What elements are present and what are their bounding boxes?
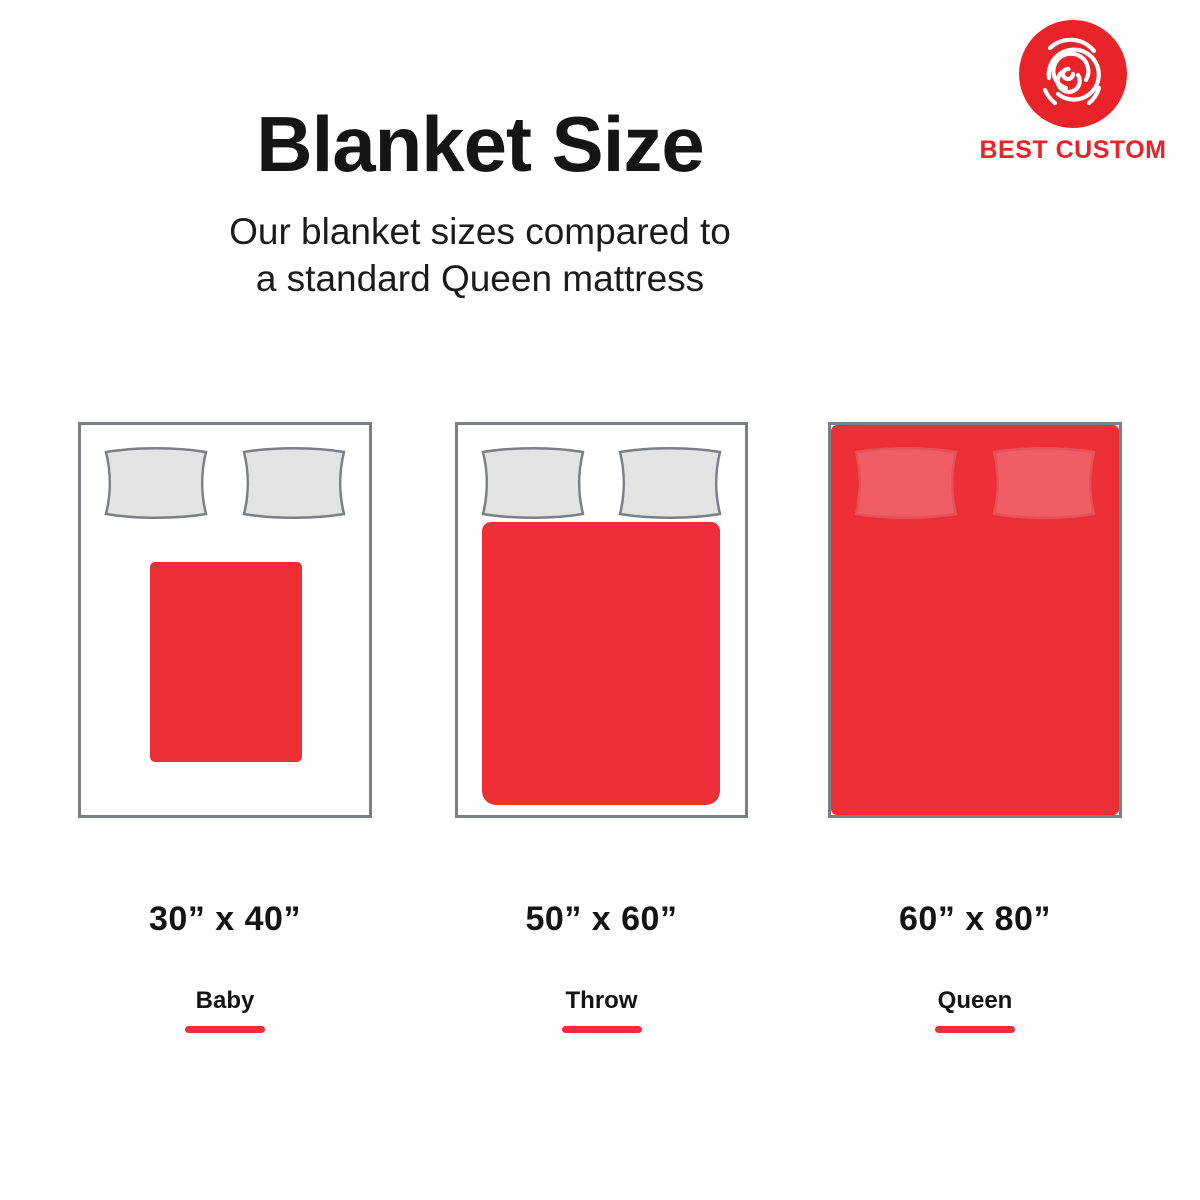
bed-diagrams: [0, 422, 1200, 822]
pillow-left-icon: [100, 446, 212, 520]
dimensions-label: 60” x 80”: [828, 900, 1122, 939]
page-title: Blanket Size: [0, 104, 960, 186]
baby-blanket: [150, 562, 302, 762]
dimensions-label: 50” x 60”: [455, 900, 748, 939]
pillow-right-icon: [238, 446, 350, 520]
size-name-label: Queen: [828, 987, 1122, 1015]
size-name-label: Baby: [78, 987, 372, 1015]
brand-name: BEST CUSTOM: [980, 136, 1167, 165]
pillow-right-icon: [988, 446, 1100, 520]
bed-diagram-queen: [828, 422, 1122, 818]
caption-throw: 50” x 60” Throw: [455, 900, 748, 1033]
caption-queen: 60” x 80” Queen: [828, 900, 1122, 1033]
pillow-left-icon: [477, 446, 589, 520]
size-name-label: Throw: [455, 987, 748, 1015]
accent-rule: [185, 1026, 265, 1033]
throw-blanket: [482, 522, 720, 805]
pillow-left-icon: [850, 446, 962, 520]
header-block: Blanket Size Our blanket sizes compared …: [0, 104, 960, 303]
dimensions-label: 30” x 40”: [78, 900, 372, 939]
brand-logo: BEST CUSTOM: [968, 18, 1178, 165]
fingerprint-icon: [1017, 18, 1129, 130]
caption-baby: 30” x 40” Baby: [78, 900, 372, 1033]
size-captions: 30” x 40” Baby 50” x 60” Throw 60” x 80”…: [0, 900, 1200, 1050]
page-subtitle: Our blanket sizes compared to a standard…: [0, 208, 960, 303]
bed-diagram-throw: [455, 422, 748, 818]
accent-rule: [935, 1026, 1015, 1033]
subtitle-line-2: a standard Queen mattress: [0, 255, 960, 302]
accent-rule: [562, 1026, 642, 1033]
subtitle-line-1: Our blanket sizes compared to: [0, 208, 960, 255]
bed-diagram-baby: [78, 422, 372, 818]
pillow-right-icon: [614, 446, 726, 520]
